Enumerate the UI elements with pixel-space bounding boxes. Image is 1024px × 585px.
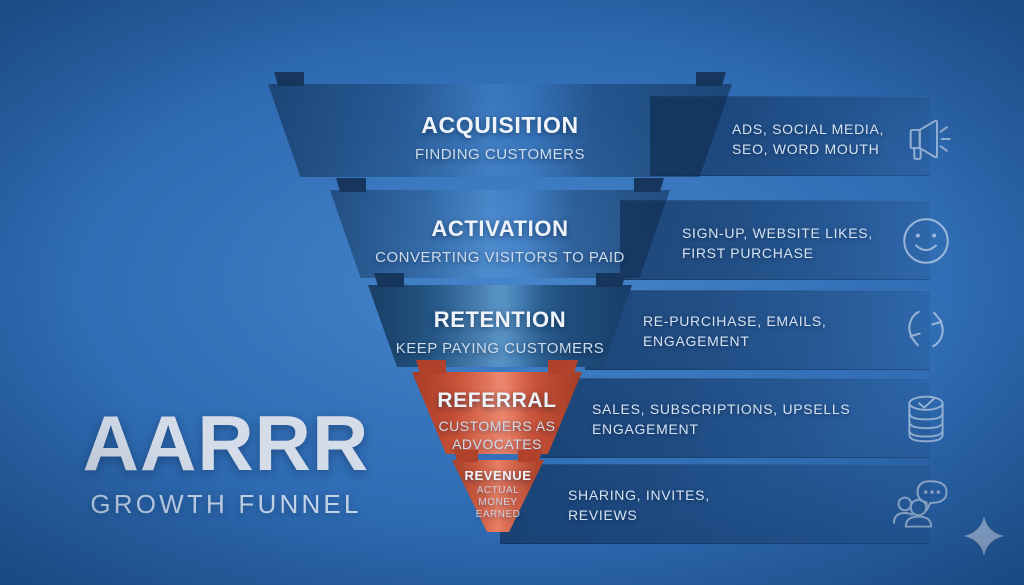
people-speech-bubble-icon (890, 474, 956, 532)
funnel-stage-acquisition[interactable]: ACQUISITION FINDING CUSTOMERS (268, 84, 732, 177)
infographic-canvas: ADS, SOCIAL MEDIA, SEO, WORD MOUTH SIGN-… (0, 0, 1024, 585)
info-band-text-retention: RE-PURCIHASE, EMAILS, ENGAGEMENT (643, 312, 827, 352)
info-line-2: ENGAGEMENT (592, 420, 850, 440)
info-line-1: ADS, SOCIAL MEDIA, (732, 120, 884, 140)
megaphone-icon (898, 110, 956, 168)
funnel-stage-retention[interactable]: RETENTION KEEP PAYING CUSTOMERS (368, 285, 632, 367)
info-band-text-referral: SALES, SUBSCRIPTIONS, UPSELLS ENGAGEMENT (592, 400, 850, 440)
funnel-slab-shade (268, 84, 732, 177)
info-band-retention: RE-PURCIHASE, EMAILS, ENGAGEMENT (585, 290, 930, 370)
funnel-tab-left (416, 360, 446, 374)
info-line-2: ENGAGEMENT (643, 332, 827, 352)
info-line-1: RE-PURCIHASE, EMAILS, (643, 312, 827, 332)
info-band-revenue: SHARING, INVITES, REVIEWS (500, 464, 930, 544)
info-band-text-acquisition: ADS, SOCIAL MEDIA, SEO, WORD MOUTH (732, 120, 884, 160)
funnel-slab-shade (368, 285, 632, 367)
info-line-1: SALES, SUBSCRIPTIONS, UPSELLS (592, 400, 850, 420)
info-line-2: FIRST PURCHASE (682, 244, 873, 264)
funnel-tab-right (634, 178, 664, 192)
funnel-stage-referral[interactable]: REFERRAL CUSTOMERS AS ADVOCATES (412, 372, 582, 454)
funnel-slab-shade (330, 190, 670, 278)
page-title: AARRR (66, 405, 386, 481)
four-point-star-icon (962, 514, 1006, 563)
funnel-tab-right (696, 72, 726, 86)
info-band-text-revenue: SHARING, INVITES, REVIEWS (568, 486, 710, 526)
database-check-icon (898, 390, 954, 448)
funnel-tab-right (596, 273, 626, 287)
info-line-1: SIGN-UP, WEBSITE LIKES, (682, 224, 873, 244)
funnel-tab-right (548, 360, 578, 374)
funnel-tab-right (518, 450, 542, 462)
funnel-tab-left (374, 273, 404, 287)
page-subtitle: GROWTH FUNNEL (66, 489, 386, 520)
funnel-slab-shade (452, 460, 544, 532)
info-line-1: SHARING, INVITES, (568, 486, 710, 506)
info-line-2: REVIEWS (568, 506, 710, 526)
funnel-tab-left (336, 178, 366, 192)
funnel-slab-shade (412, 372, 582, 454)
info-band-referral: SALES, SUBSCRIPTIONS, UPSELLS ENGAGEMENT (540, 378, 930, 458)
info-line-2: SEO, WORD MOUTH (732, 140, 884, 160)
funnel-stage-activation[interactable]: ACTIVATION CONVERTING VISITORS TO PAID (330, 190, 670, 278)
funnel-stage-revenue[interactable]: REVENUE ACTUAL MONEY EARNED (452, 460, 544, 532)
refresh-arrows-icon (897, 300, 955, 358)
smiley-face-icon (897, 212, 955, 270)
funnel-tab-left (454, 450, 478, 462)
info-band-text-activation: SIGN-UP, WEBSITE LIKES, FIRST PURCHASE (682, 224, 873, 264)
brand-title-block: AARRR GROWTH FUNNEL (66, 405, 386, 520)
funnel-tab-left (274, 72, 304, 86)
